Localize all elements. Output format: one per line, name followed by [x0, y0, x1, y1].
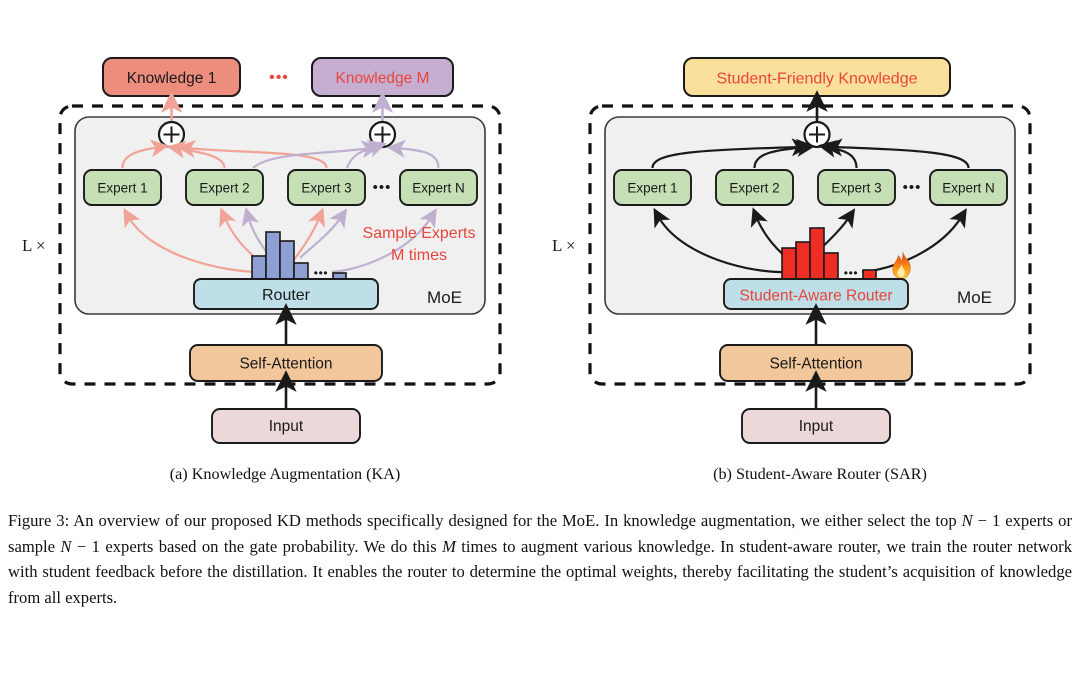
knowledge-1-box[interactable]: Knowledge 1 [103, 58, 240, 96]
expert-2-label-sar: Expert 2 [729, 181, 779, 196]
caption-sentence-2a: we either select the top [800, 511, 961, 530]
expert-3-label-sar: Expert 3 [831, 181, 881, 196]
sum-node-sar [805, 122, 830, 147]
router-box-ka[interactable]: Router [194, 279, 378, 309]
router-label-ka: Router [262, 287, 311, 304]
input-label-sar: Input [799, 418, 834, 435]
student-aware-router-box[interactable]: Student-Aware Router [724, 279, 908, 309]
caption-sentence-2c: − 1 experts based on the gate probabilit… [72, 537, 443, 556]
sample-note-line1-ka: Sample Experts [363, 225, 476, 242]
figure-caption: Figure 3: An overview of our proposed KD… [8, 508, 1072, 610]
student-friendly-knowledge-box[interactable]: Student-Friendly Knowledge [684, 58, 950, 96]
histogram-ellipsis-ka: ••• [314, 266, 328, 280]
caption-var-n1: N [962, 511, 973, 530]
subcaption-a: (a) Knowledge Augmentation (KA) [60, 465, 510, 484]
expert-1-label-ka: Expert 1 [97, 181, 147, 196]
caption-var-m: M [442, 537, 456, 556]
expert-1-label-sar: Expert 1 [627, 181, 677, 196]
repeat-label-ka: L × [22, 236, 46, 255]
panel-student-aware-router: L × MoE Student-Friendly Knowledge Exper… [552, 58, 1030, 443]
knowledge-1-label: Knowledge 1 [127, 70, 217, 87]
self-attention-label-sar: Self-Attention [769, 356, 862, 373]
expert-n-box-ka[interactable]: Expert N [400, 170, 477, 205]
histogram-ellipsis-sar: ••• [844, 266, 858, 280]
sum-node-1-ka [159, 122, 184, 147]
expert-2-box-ka[interactable]: Expert 2 [186, 170, 263, 205]
input-label-ka: Input [269, 418, 304, 435]
experts-ellipsis-ka: ••• [373, 179, 392, 196]
knowledge-m-box[interactable]: Knowledge M [312, 58, 453, 96]
experts-ellipsis-sar: ••• [903, 179, 922, 196]
expert-n-box-sar[interactable]: Expert N [930, 170, 1007, 205]
caption-label: Figure 3: [8, 511, 69, 530]
caption-var-n2: N [60, 537, 71, 556]
sample-note-line2-ka: M times [391, 247, 447, 264]
moe-label-sar: MoE [957, 288, 992, 307]
knowledge-m-label: Knowledge M [336, 70, 430, 87]
student-friendly-knowledge-label: Student-Friendly Knowledge [716, 71, 917, 88]
figure-3: L × MoE Knowledge 1 ••• Knowledge M [0, 0, 1080, 679]
repeat-label-sar: L × [552, 236, 576, 255]
expert-3-box-ka[interactable]: Expert 3 [288, 170, 365, 205]
moe-kd-diagram: L × MoE Knowledge 1 ••• Knowledge M [0, 0, 1080, 500]
expert-2-box-sar[interactable]: Expert 2 [716, 170, 793, 205]
expert-n-label-sar: Expert N [942, 181, 995, 196]
caption-sentence-1: An overview of our proposed KD methods s… [69, 511, 795, 530]
self-attention-label-ka: Self-Attention [239, 356, 332, 373]
self-attention-box-sar[interactable]: Self-Attention [720, 345, 912, 381]
expert-2-label-ka: Expert 2 [199, 181, 249, 196]
panel-knowledge-augmentation: L × MoE Knowledge 1 ••• Knowledge M [22, 58, 500, 443]
subcaption-b: (b) Student-Aware Router (SAR) [595, 465, 1045, 484]
expert-3-label-ka: Expert 3 [301, 181, 351, 196]
expert-1-box-sar[interactable]: Expert 1 [614, 170, 691, 205]
student-aware-router-label: Student-Aware Router [739, 288, 892, 305]
input-box-ka[interactable]: Input [212, 409, 360, 443]
caption-sentence-2d: times [456, 537, 497, 556]
outputs-ellipsis-ka: ••• [269, 69, 289, 86]
moe-label-ka: MoE [427, 288, 462, 307]
expert-3-box-sar[interactable]: Expert 3 [818, 170, 895, 205]
self-attention-box-ka[interactable]: Self-Attention [190, 345, 382, 381]
caption-sentence-4: the distillation. It enables the router … [207, 562, 975, 581]
expert-n-label-ka: Expert N [412, 181, 465, 196]
sum-node-2-ka [370, 122, 395, 147]
expert-1-box-ka[interactable]: Expert 1 [84, 170, 161, 205]
input-box-sar[interactable]: Input [742, 409, 890, 443]
